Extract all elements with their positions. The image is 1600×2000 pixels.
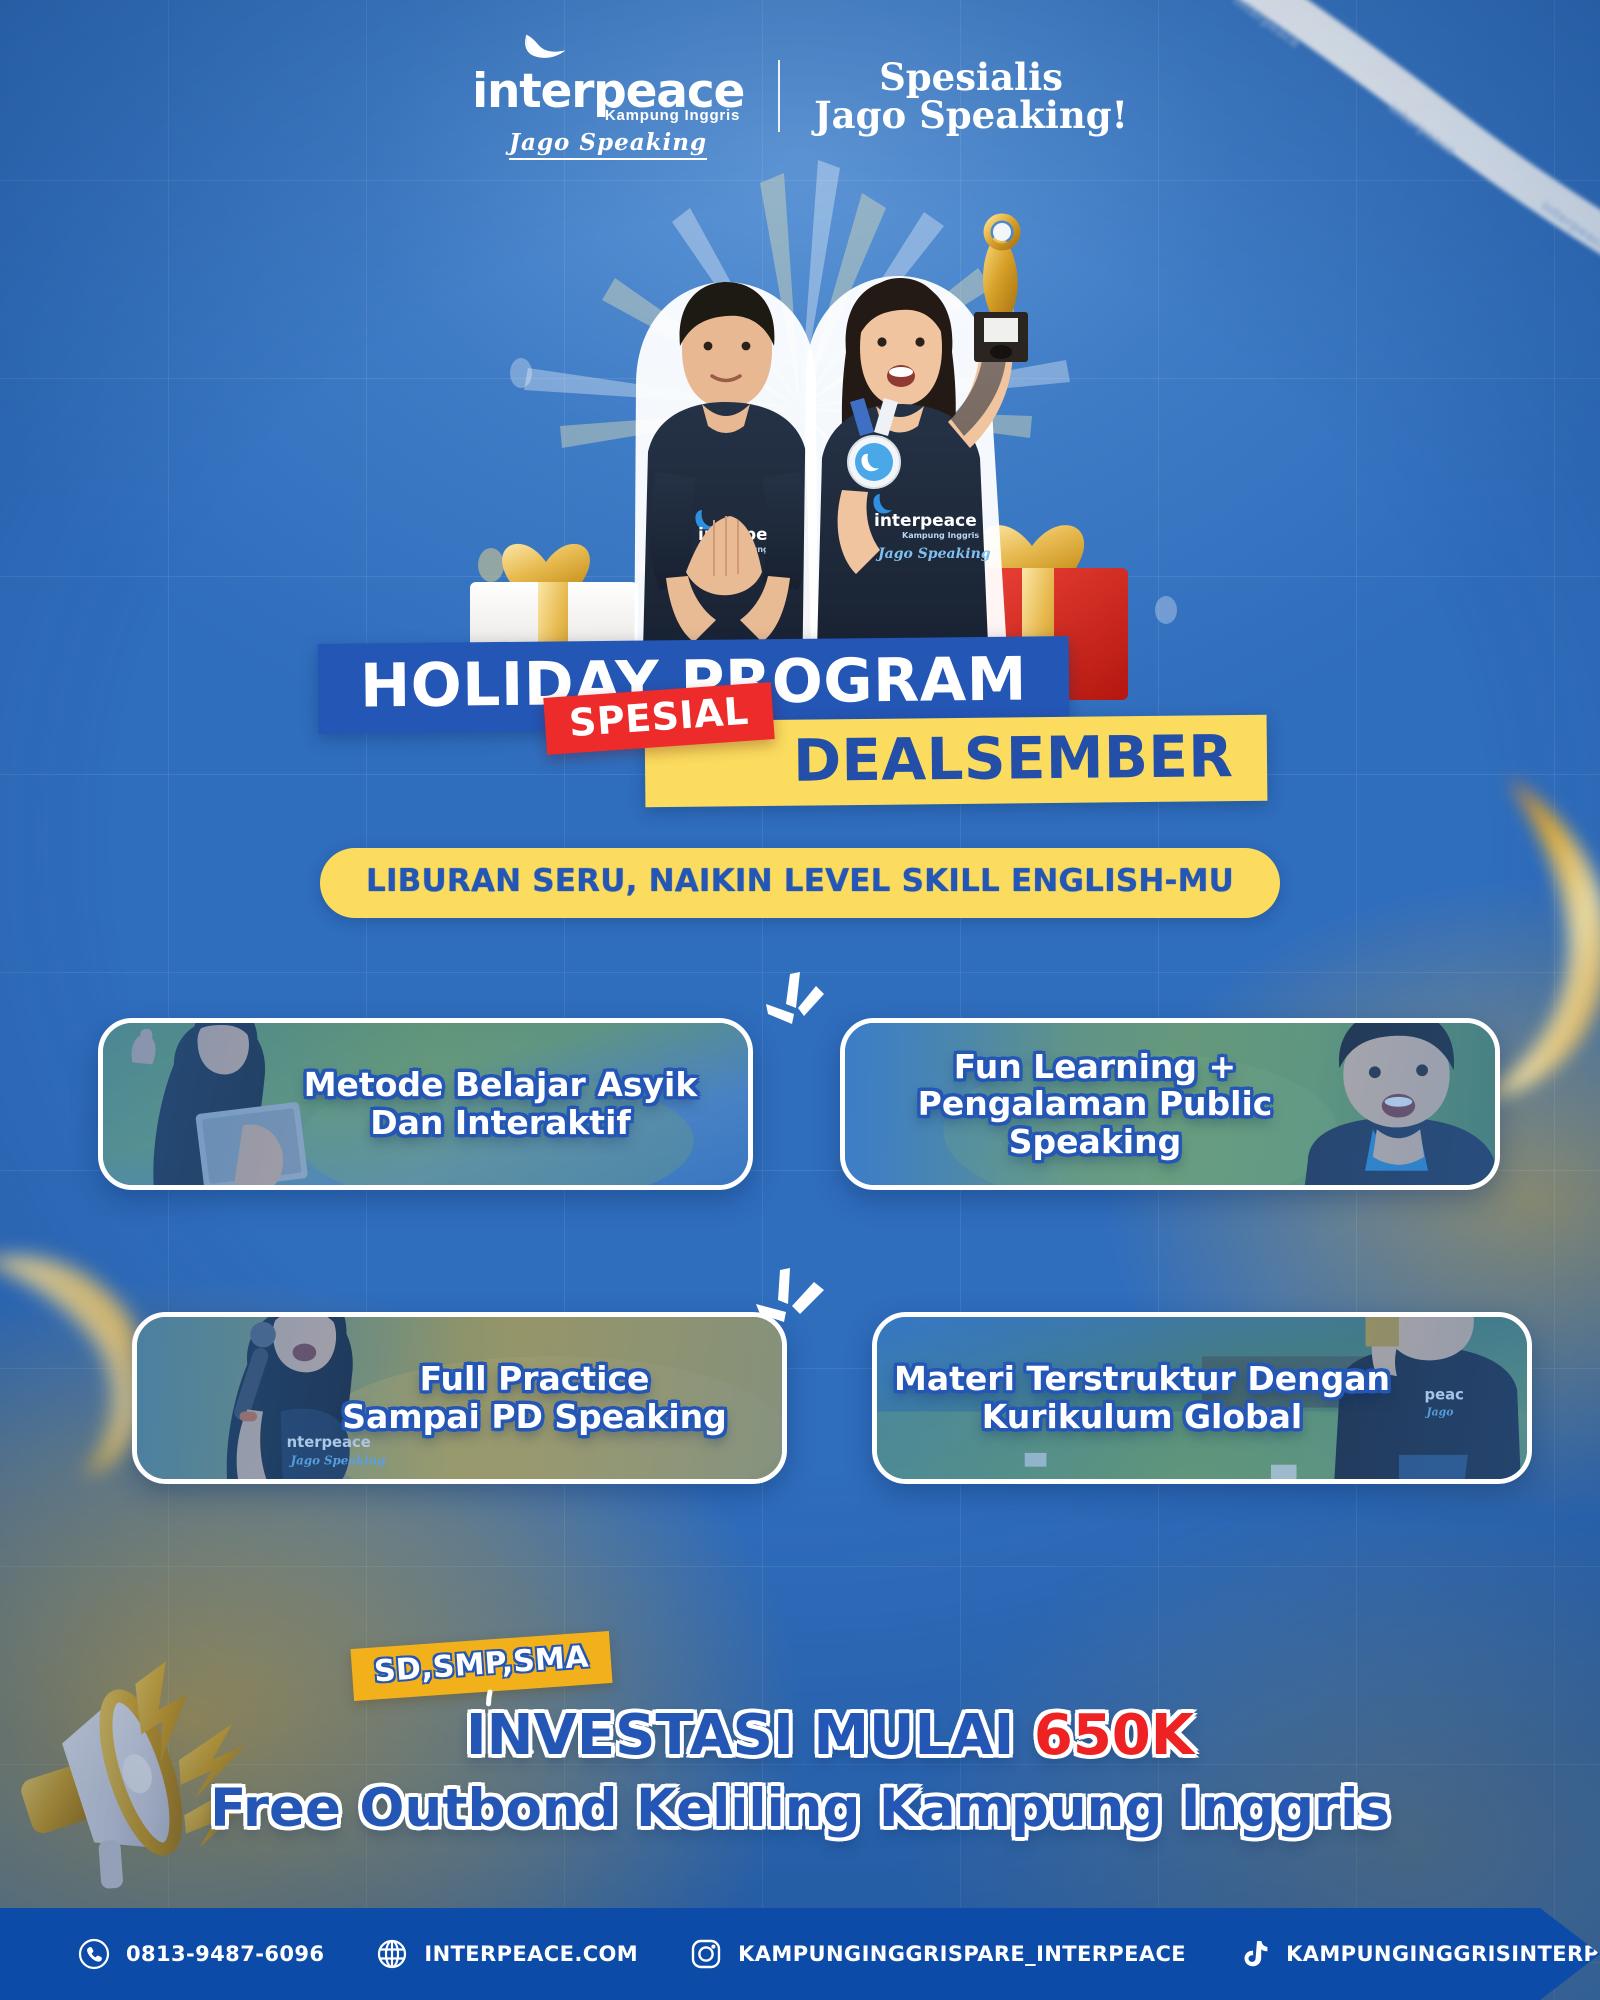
footer-phone-label: 0813-9487-6096 [126,1942,324,1966]
footer-contact-phone[interactable]: 0813-9487-6096 [78,1938,324,1970]
feature-card-4: peac Jago Materi Terstruktur DenganKurik… [872,1312,1532,1484]
globe-icon [376,1938,408,1970]
sparkle-decoration [760,970,834,1050]
feature-cards: Metode Belajar AsyikDan Interaktif [0,1000,1600,1520]
gold-trophy [974,217,1028,362]
feature-card-1: Metode Belajar AsyikDan Interaktif [98,1018,753,1190]
promo-poster: interpeace interpeace interpeace [0,0,1600,2000]
subtitle-text: LIBURAN SERU, NAIKIN LEVEL SKILL ENGLISH… [366,863,1234,899]
svg-text:Jago Speaking: Jago Speaking [875,546,991,562]
hero-people-and-gifts: interpeace Kampung Inggris [450,190,1150,710]
brand-header: interpeace Kampung Inggris Jago Speaking… [0,32,1600,160]
price-prefix-text: INVESTASI MULAI [466,1703,1034,1768]
level-badge-text: SD,SMP,SMA [373,1640,590,1690]
headline-month-text: DEALSEMBER [793,727,1234,790]
phone-icon [78,1938,110,1970]
tagline-line-1: Spesialis [814,58,1128,96]
feature-card-3: nterpeace Jago Speaking Full PracticeSam… [132,1312,787,1484]
tagline-line-2: Jago Speaking! [814,96,1128,134]
student-boy-photo: interpeace Kampung Inggris [634,282,818,700]
footer-website-label: INTERPEACE.COM [424,1942,638,1966]
footer-contact-website[interactable]: INTERPEACE.COM [376,1938,638,1970]
feature-card-2: Fun Learning +Pengalaman PublicSpeaking [840,1018,1500,1190]
price-bonus-text: Free Outbond Keliling Kampung Inggris [0,1782,1600,1835]
footer-instagram-label: KAMPUNGINGGRISPARE_INTERPEACE [738,1942,1186,1966]
interpeace-logo: interpeace Kampung Inggris Jago Speaking [472,32,744,160]
feature-card-1-text: Metode Belajar AsyikDan Interaktif [288,1066,714,1141]
footer-contact-tiktok[interactable]: KAMPUNGINGGRISINTERPEACE [1238,1938,1600,1970]
feature-card-4-text: Materi Terstruktur DenganKurikulum Globa… [878,1360,1406,1435]
tiktok-icon [1238,1938,1270,1970]
logo-script-tagline: Jago Speaking [509,129,707,160]
sparkle-decoration [752,1264,842,1346]
svg-text:interpeace: interpeace [874,511,977,531]
price-amount-text: 650K [1034,1703,1194,1768]
brand-tagline: Spesialis Jago Speaking! [814,58,1128,135]
footer-tiktok-label: KAMPUNGINGGRISINTERPEACE [1286,1942,1600,1966]
instagram-icon [690,1938,722,1970]
contact-footer: 0813-9487-6096 INTERPEACE.COM KAMPUNGING… [0,1908,1600,2000]
student-girl-photo: interpeace Kampung Inggris Jago Speaking [802,217,1028,700]
svg-text:Kampung Inggris: Kampung Inggris [902,531,979,540]
headline-special-text: SPESIAL [568,692,750,742]
price-headline: INVESTASI MULAI 650K [0,1708,1600,1764]
confetti-dot [1155,596,1177,624]
header-divider [778,60,780,132]
feature-card-3-text: Full PracticeSampai PD Speaking [326,1360,743,1435]
logo-wordmark: interpeace [472,68,744,115]
hero-section: interpeace Kampung Inggris [0,118,1600,678]
subtitle-pill: LIBURAN SERU, NAIKIN LEVEL SKILL ENGLISH… [320,848,1280,918]
footer-contact-instagram[interactable]: KAMPUNGINGGRISPARE_INTERPEACE [690,1938,1186,1970]
feature-card-2-text: Fun Learning +Pengalaman PublicSpeaking [902,1048,1289,1161]
